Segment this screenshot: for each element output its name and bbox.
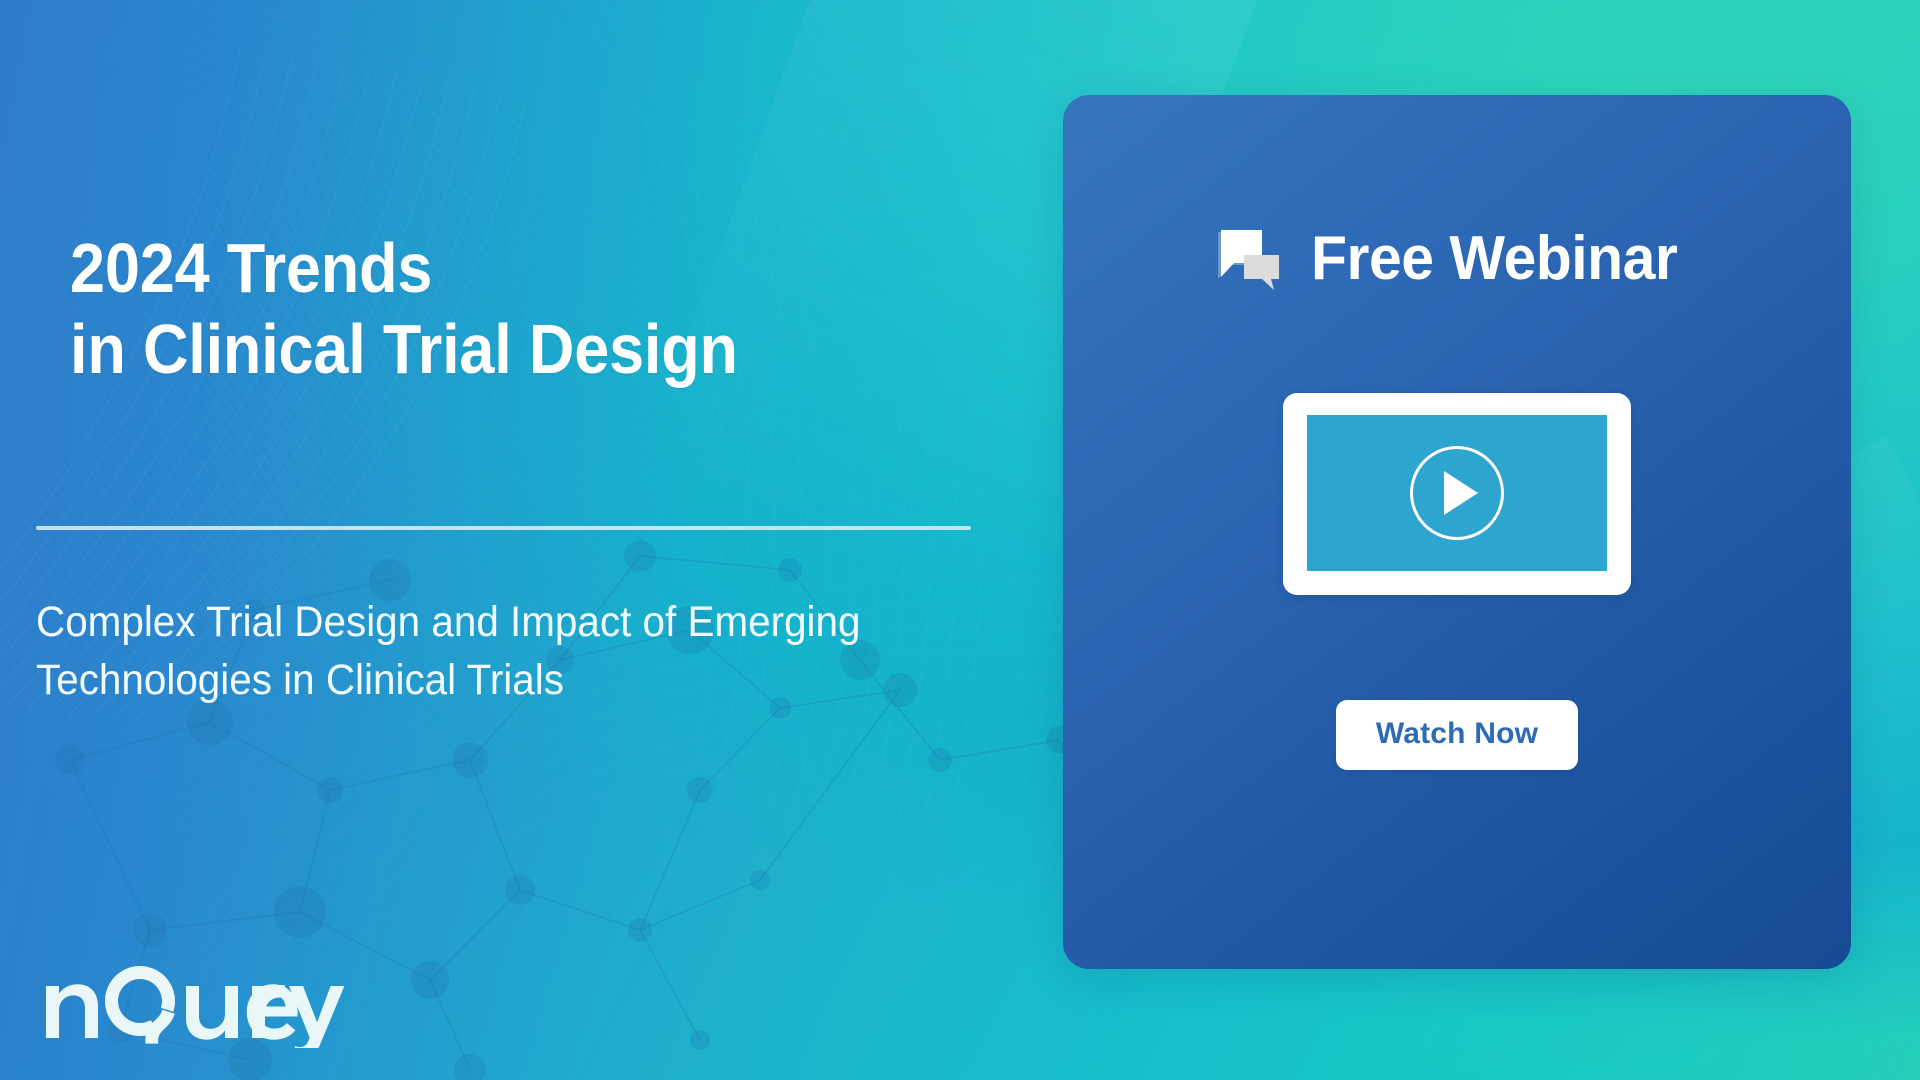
play-icon[interactable] xyxy=(1410,446,1504,540)
play-triangle xyxy=(1444,471,1478,515)
video-screen xyxy=(1307,415,1607,571)
speech-bubbles-icon xyxy=(1217,229,1287,291)
webinar-card-header: Free Webinar xyxy=(1063,227,1851,291)
hero-text-block: 2024 Trends in Clinical Trial Design xyxy=(70,228,1010,390)
webinar-card-title: Free Webinar xyxy=(1311,228,1677,290)
title-divider xyxy=(36,526,971,530)
video-player-graphic[interactable] xyxy=(1283,393,1631,595)
watch-now-button[interactable]: Watch Now xyxy=(1336,700,1578,770)
hero-subtitle: Complex Trial Design and Impact of Emerg… xyxy=(36,594,887,709)
poster-canvas: 2024 Trends in Clinical Trial Design Com… xyxy=(0,0,1920,1080)
webinar-card: Free Webinar Watch Now xyxy=(1063,95,1851,969)
page-title: 2024 Trends in Clinical Trial Design xyxy=(70,228,916,390)
nquery-logo-tail xyxy=(250,952,370,1048)
